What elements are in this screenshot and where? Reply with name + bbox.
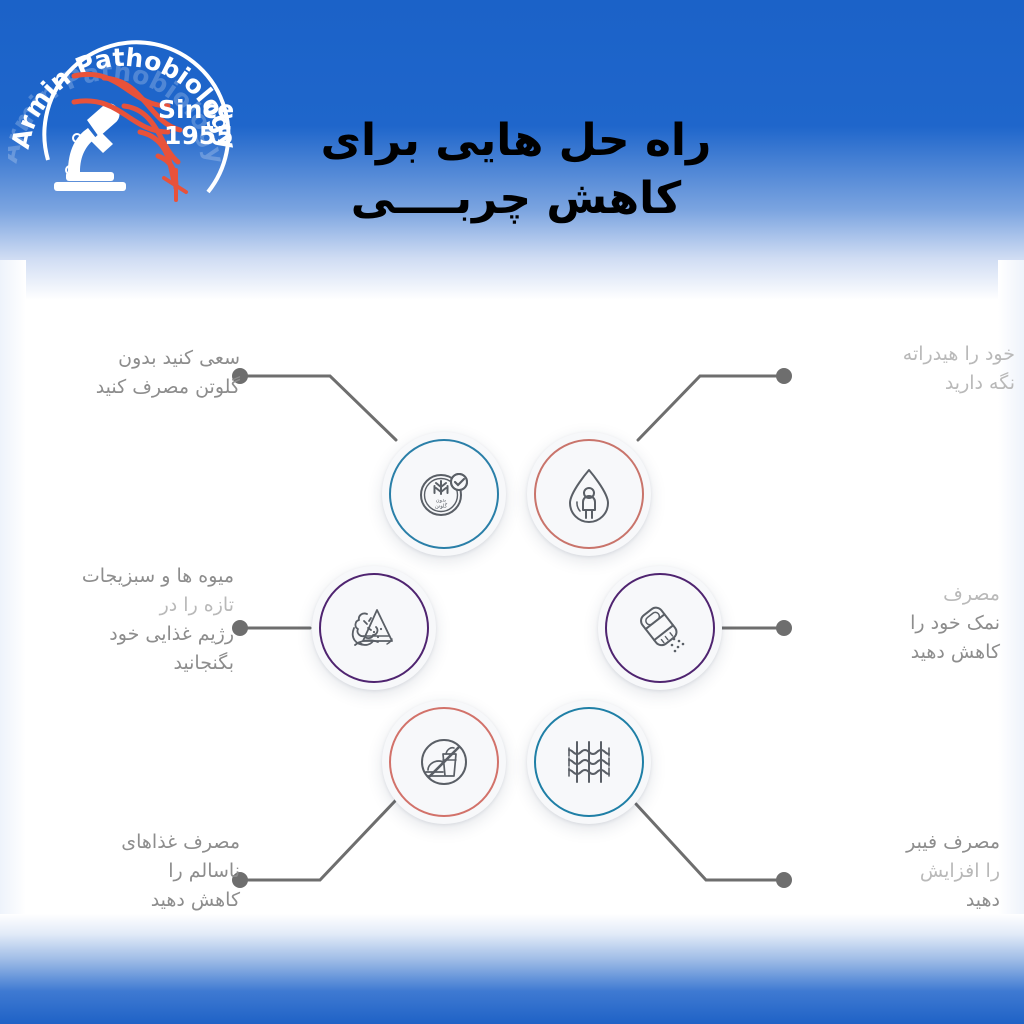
connector-hydration [638, 376, 784, 440]
fruits-vegetables-icon [342, 596, 406, 660]
caption-line: مصرف [800, 580, 1000, 609]
caption-fruits-vegetables: میوه ها و سبزیجات تازه را در رژیم غذایی … [34, 562, 234, 678]
connector-dot-increase-fiber [776, 872, 792, 888]
caption-line: کاهش دهید [40, 886, 240, 915]
brand-logo: Armin Pathobiology Lab Armin Pathobiolog… [8, 10, 274, 232]
caption-line: مصرف غذاهای [40, 828, 240, 857]
gluten-icon-text-line2: گلوتن [435, 503, 448, 510]
water-drop-person-icon [557, 462, 621, 526]
salt-shaker-icon [628, 596, 692, 660]
node-reduce-salt[interactable] [598, 566, 722, 690]
caption-line: مصرف فیبر [800, 828, 1000, 857]
diagram-area: بدون گلوتن [0, 300, 1024, 960]
caption-line: رژیم غذایی خود [34, 620, 234, 649]
node-increase-fiber[interactable] [527, 700, 651, 824]
caption-line: گلوتن مصرف کنید [40, 373, 240, 402]
caption-no-junk-food: مصرف غذاهای ناسالم را کاهش دهید [40, 828, 240, 915]
title-line-1: راه حل هایی برای [321, 115, 712, 166]
connector-dot-reduce-salt [776, 620, 792, 636]
caption-line: را افزایش [800, 857, 1000, 886]
connector-dot-hydration [776, 368, 792, 384]
caption-line: نمک خود را [800, 609, 1000, 638]
caption-line: کاهش دهید [800, 638, 1000, 667]
caption-line: بگنجانید [34, 649, 234, 678]
node-hydration[interactable] [527, 432, 651, 556]
caption-gluten-free: سعی کنید بدون گلوتن مصرف کنید [40, 344, 240, 402]
infographic-poster: Armin Pathobiology Lab Armin Pathobiolog… [0, 0, 1024, 1024]
node-fruits-vegetables[interactable] [312, 566, 436, 690]
node-no-junk-food[interactable] [382, 700, 506, 824]
no-junk-food-icon [412, 730, 476, 794]
logo-since-year: 1955 [164, 121, 234, 150]
connector-no-junk-food [240, 800, 396, 880]
node-gluten-free[interactable]: بدون گلوتن [382, 432, 506, 556]
caption-line: دهید [800, 886, 1000, 915]
connector-increase-fiber [636, 804, 784, 880]
caption-line: ناسالم را [40, 857, 240, 886]
connector-dot-fruits-vegetables [232, 620, 248, 636]
caption-line: سعی کنید بدون [40, 344, 240, 373]
caption-reduce-salt: مصرف نمک خود را کاهش دهید [800, 580, 1000, 667]
caption-line: نگه دارید [800, 369, 1015, 398]
caption-hydration: خود را هیدراته نگه دارید [800, 340, 1015, 398]
caption-line: تازه را در [34, 591, 234, 620]
caption-line: خود را هیدراته [800, 340, 1015, 369]
page-title: راه حل هایی برای کاهش چربــــی [286, 112, 746, 228]
caption-line: میوه ها و سبزیجات [34, 562, 234, 591]
microscope-icon [54, 104, 126, 191]
caption-increase-fiber: مصرف فیبر را افزایش دهید [800, 828, 1000, 915]
logo-since-label: Since [158, 95, 234, 124]
gluten-free-icon: بدون گلوتن [412, 462, 476, 526]
title-line-2: کاهش چربــــی [286, 170, 746, 228]
connector-gluten-free [240, 376, 396, 440]
fiber-weave-icon [557, 730, 621, 794]
